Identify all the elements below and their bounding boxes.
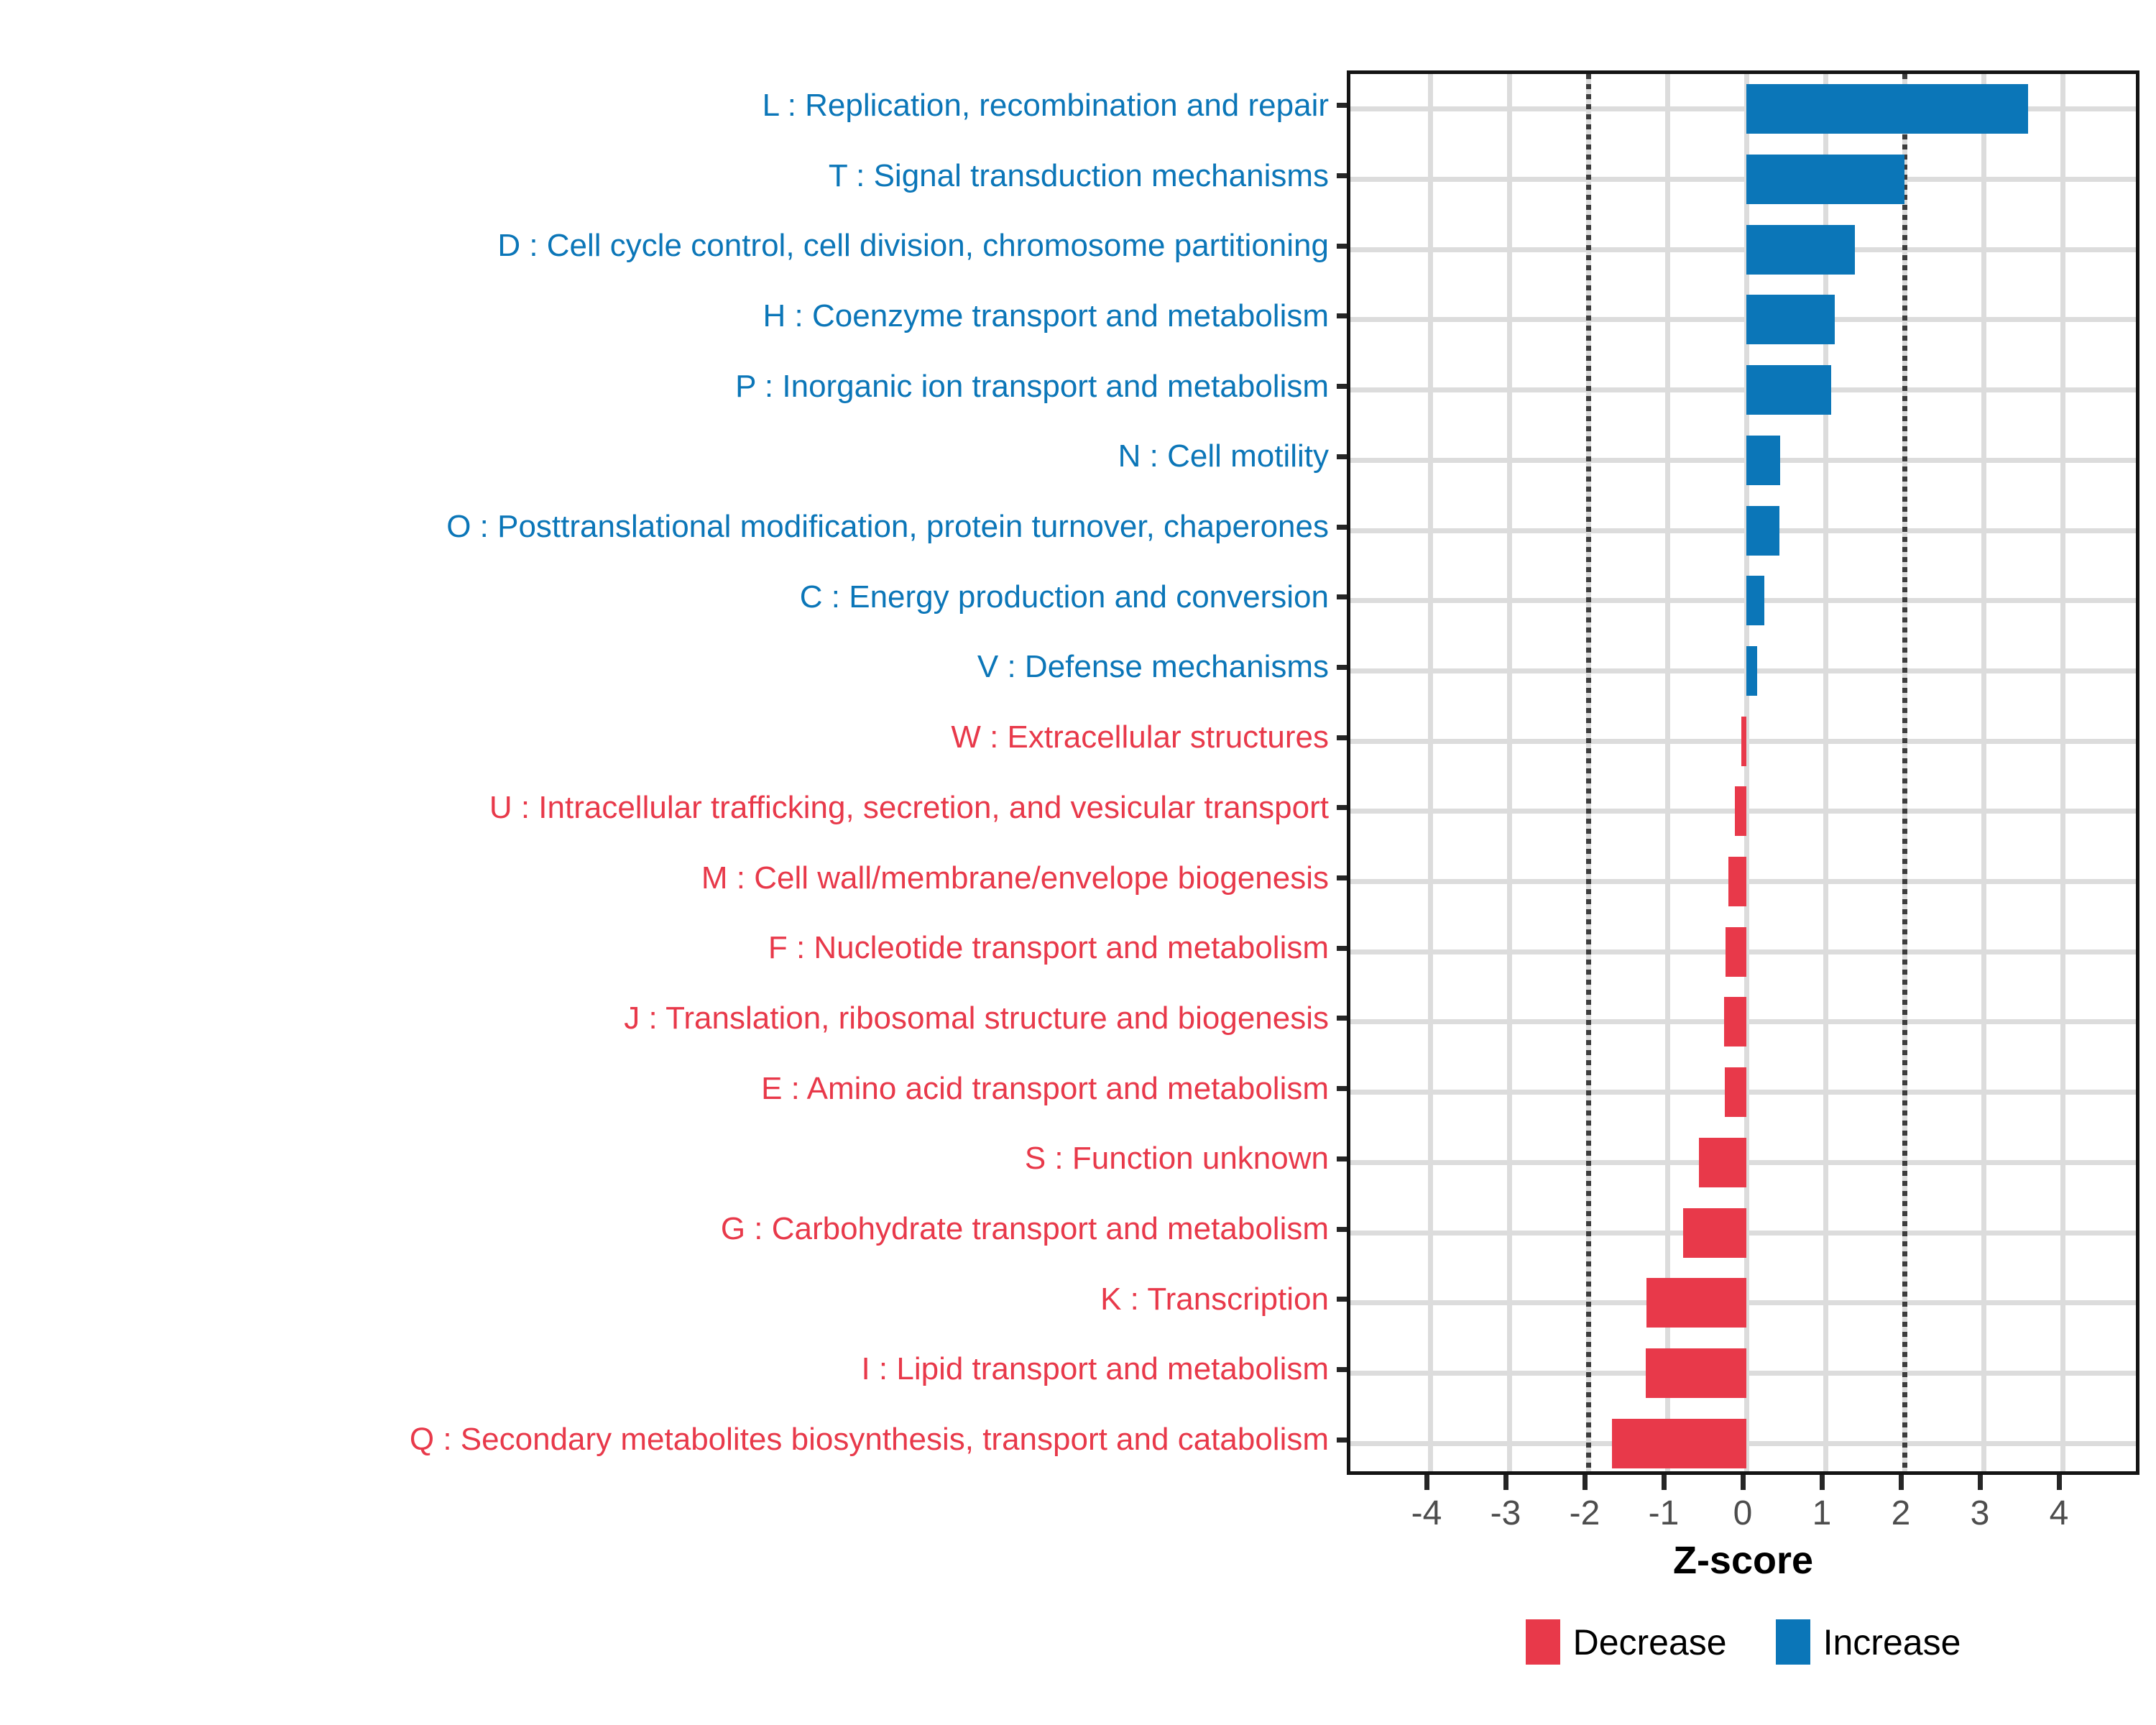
y-axis-category-label: E : Amino acid transport and metabolism — [761, 1073, 1333, 1105]
bar — [1646, 1348, 1746, 1398]
y-axis-tick — [1337, 805, 1347, 810]
y-axis-label-row: V : Defense mechanisms — [0, 632, 1333, 703]
y-axis-category-label: L : Replication, recombination and repai… — [763, 90, 1333, 121]
y-axis-tick — [1337, 594, 1347, 599]
bar — [1746, 225, 1855, 275]
bar — [1746, 365, 1831, 415]
y-axis-tick — [1337, 735, 1347, 740]
bar — [1735, 786, 1747, 836]
y-axis-label-row: H : Coenzyme transport and metabolism — [0, 281, 1333, 351]
x-axis-tick-label: 4 — [2050, 1494, 2069, 1533]
vertical-gridline — [1981, 74, 1986, 1471]
bar — [1683, 1208, 1746, 1258]
horizontal-gridline — [1350, 598, 2136, 603]
y-axis-tick — [1337, 1367, 1347, 1372]
y-axis-category-label: J : Translation, ribosomal structure and… — [624, 1003, 1333, 1034]
y-axis-label-row: T : Signal transduction mechanisms — [0, 141, 1333, 211]
bar — [1646, 1278, 1746, 1328]
y-axis-label-row: P : Inorganic ion transport and metaboli… — [0, 351, 1333, 422]
x-axis-tick-label: 0 — [1733, 1494, 1753, 1533]
y-axis-category-label: S : Function unknown — [1025, 1143, 1333, 1174]
reference-line — [1902, 74, 1907, 1471]
bar — [1746, 646, 1757, 696]
horizontal-gridline — [1350, 387, 2136, 392]
horizontal-gridline — [1350, 317, 2136, 322]
y-axis-category-label: U : Intracellular trafficking, secretion… — [489, 792, 1333, 824]
y-axis-category-label: V : Defense mechanisms — [977, 651, 1333, 683]
y-axis-tick — [1337, 946, 1347, 951]
y-axis-category-label: F : Nucleotide transport and metabolism — [768, 932, 1333, 964]
bar — [1741, 717, 1746, 766]
y-axis-label-row: Q : Secondary metabolites biosynthesis, … — [0, 1404, 1333, 1475]
x-axis-tick-label: -1 — [1649, 1494, 1680, 1533]
y-axis-tick — [1337, 1156, 1347, 1161]
y-axis-label-row: O : Posttranslational modification, prot… — [0, 492, 1333, 562]
y-axis-tick — [1337, 313, 1347, 318]
y-axis-tick — [1337, 173, 1347, 178]
y-axis-category-label: Q : Secondary metabolites biosynthesis, … — [410, 1424, 1333, 1455]
y-axis-category-label: I : Lipid transport and metabolism — [861, 1353, 1333, 1385]
y-axis-tick — [1337, 665, 1347, 670]
y-axis-label-row: M : Cell wall/membrane/envelope biogenes… — [0, 843, 1333, 914]
horizontal-gridline — [1350, 528, 2136, 533]
y-axis-tick — [1337, 1086, 1347, 1091]
bar — [1746, 506, 1779, 556]
x-axis-tick — [1820, 1475, 1825, 1490]
bar — [1724, 997, 1746, 1046]
y-axis-label-row: F : Nucleotide transport and metabolism — [0, 913, 1333, 983]
y-axis-category-label: T : Signal transduction mechanisms — [829, 160, 1333, 192]
y-axis-tick — [1337, 103, 1347, 108]
x-axis-tick — [1899, 1475, 1904, 1490]
x-axis-tick — [1424, 1475, 1429, 1490]
y-axis-label-row: J : Translation, ribosomal structure and… — [0, 983, 1333, 1054]
y-axis-tick — [1337, 1227, 1347, 1232]
plot-area — [1350, 74, 2136, 1471]
y-axis-label-row: W : Extracellular structures — [0, 702, 1333, 773]
horizontal-gridline — [1350, 458, 2136, 463]
y-axis-label-row: N : Cell motility — [0, 422, 1333, 492]
horizontal-gridline — [1350, 668, 2136, 673]
y-axis-category-label: D : Cell cycle control, cell division, c… — [497, 230, 1333, 262]
y-axis-label-row: E : Amino acid transport and metabolism — [0, 1054, 1333, 1124]
reference-line — [1586, 74, 1591, 1471]
vertical-gridline — [1507, 74, 1512, 1471]
x-axis-tick-label: -2 — [1570, 1494, 1600, 1533]
legend-color-swatch — [1776, 1619, 1810, 1665]
bar — [1746, 576, 1764, 625]
legend-item[interactable]: Increase — [1776, 1619, 1961, 1665]
y-axis-label-row: U : Intracellular trafficking, secretion… — [0, 773, 1333, 843]
y-axis-tick — [1337, 384, 1347, 389]
bar — [1612, 1419, 1746, 1468]
legend-label: Increase — [1823, 1621, 1961, 1663]
vertical-gridline — [2060, 74, 2065, 1471]
y-axis-label-row: S : Function unknown — [0, 1124, 1333, 1195]
y-axis-category-label: N : Cell motility — [1118, 441, 1333, 472]
x-axis-tick-label: 2 — [1892, 1494, 1911, 1533]
y-axis-tick — [1337, 244, 1347, 249]
vertical-gridline — [1428, 74, 1433, 1471]
y-axis-label-row: D : Cell cycle control, cell division, c… — [0, 211, 1333, 281]
y-axis-tick — [1337, 875, 1347, 880]
vertical-gridline — [1823, 74, 1828, 1471]
horizontal-gridline — [1350, 247, 2136, 252]
legend-label: Decrease — [1573, 1621, 1727, 1663]
x-axis-tick — [1503, 1475, 1508, 1490]
y-axis-tick — [1337, 1297, 1347, 1302]
y-axis-labels: L : Replication, recombination and repai… — [0, 70, 1333, 1475]
bar — [1728, 857, 1746, 906]
y-axis-label-row: C : Energy production and conversion — [0, 562, 1333, 632]
x-axis-tick-label: 3 — [1971, 1494, 1990, 1533]
horizontal-gridline — [1350, 177, 2136, 182]
bar — [1746, 436, 1780, 485]
bar — [1746, 84, 2028, 134]
y-axis-tick — [1337, 1016, 1347, 1021]
chart-figure: L : Replication, recombination and repai… — [0, 0, 2156, 1725]
legend-item[interactable]: Decrease — [1526, 1619, 1727, 1665]
y-axis-category-label: O : Posttranslational modification, prot… — [446, 511, 1333, 543]
y-axis-label-row: K : Transcription — [0, 1264, 1333, 1335]
y-axis-label-row: I : Lipid transport and metabolism — [0, 1335, 1333, 1405]
x-axis-tick — [1583, 1475, 1588, 1490]
x-axis-tick — [1741, 1475, 1746, 1490]
vertical-gridline — [1744, 74, 1749, 1471]
y-axis-category-label: W : Extracellular structures — [951, 722, 1333, 753]
bar — [1746, 295, 1835, 344]
legend-color-swatch — [1526, 1619, 1560, 1665]
x-axis-title: Z-score — [1347, 1538, 2139, 1583]
y-axis-tick — [1337, 454, 1347, 459]
bar — [1699, 1138, 1746, 1187]
y-axis-category-label: H : Coenzyme transport and metabolism — [763, 300, 1333, 332]
x-axis-tick — [2057, 1475, 2062, 1490]
y-axis-label-row: G : Carbohydrate transport and metabolis… — [0, 1194, 1333, 1264]
bar — [1725, 1067, 1746, 1117]
y-axis-category-label: K : Transcription — [1100, 1284, 1333, 1315]
x-axis-tick — [1978, 1475, 1983, 1490]
x-axis-tick-label: 1 — [1812, 1494, 1832, 1533]
y-axis-tick — [1337, 525, 1347, 530]
vertical-gridline — [1665, 74, 1670, 1471]
y-axis-category-label: C : Energy production and conversion — [800, 581, 1333, 613]
x-axis-tick — [1662, 1475, 1667, 1490]
chart-legend: DecreaseIncrease — [1347, 1619, 2139, 1665]
y-axis-category-label: G : Carbohydrate transport and metabolis… — [721, 1213, 1333, 1245]
plot-panel — [1347, 70, 2139, 1475]
y-axis-tick — [1337, 1437, 1347, 1443]
y-axis-category-label: P : Inorganic ion transport and metaboli… — [735, 371, 1333, 402]
x-axis-tick-label: -3 — [1491, 1494, 1521, 1533]
bar — [1726, 927, 1746, 977]
bar — [1746, 155, 1904, 204]
y-axis-label-row: L : Replication, recombination and repai… — [0, 70, 1333, 141]
x-axis-tick-label: -4 — [1411, 1494, 1442, 1533]
y-axis-category-label: M : Cell wall/membrane/envelope biogenes… — [701, 862, 1333, 894]
